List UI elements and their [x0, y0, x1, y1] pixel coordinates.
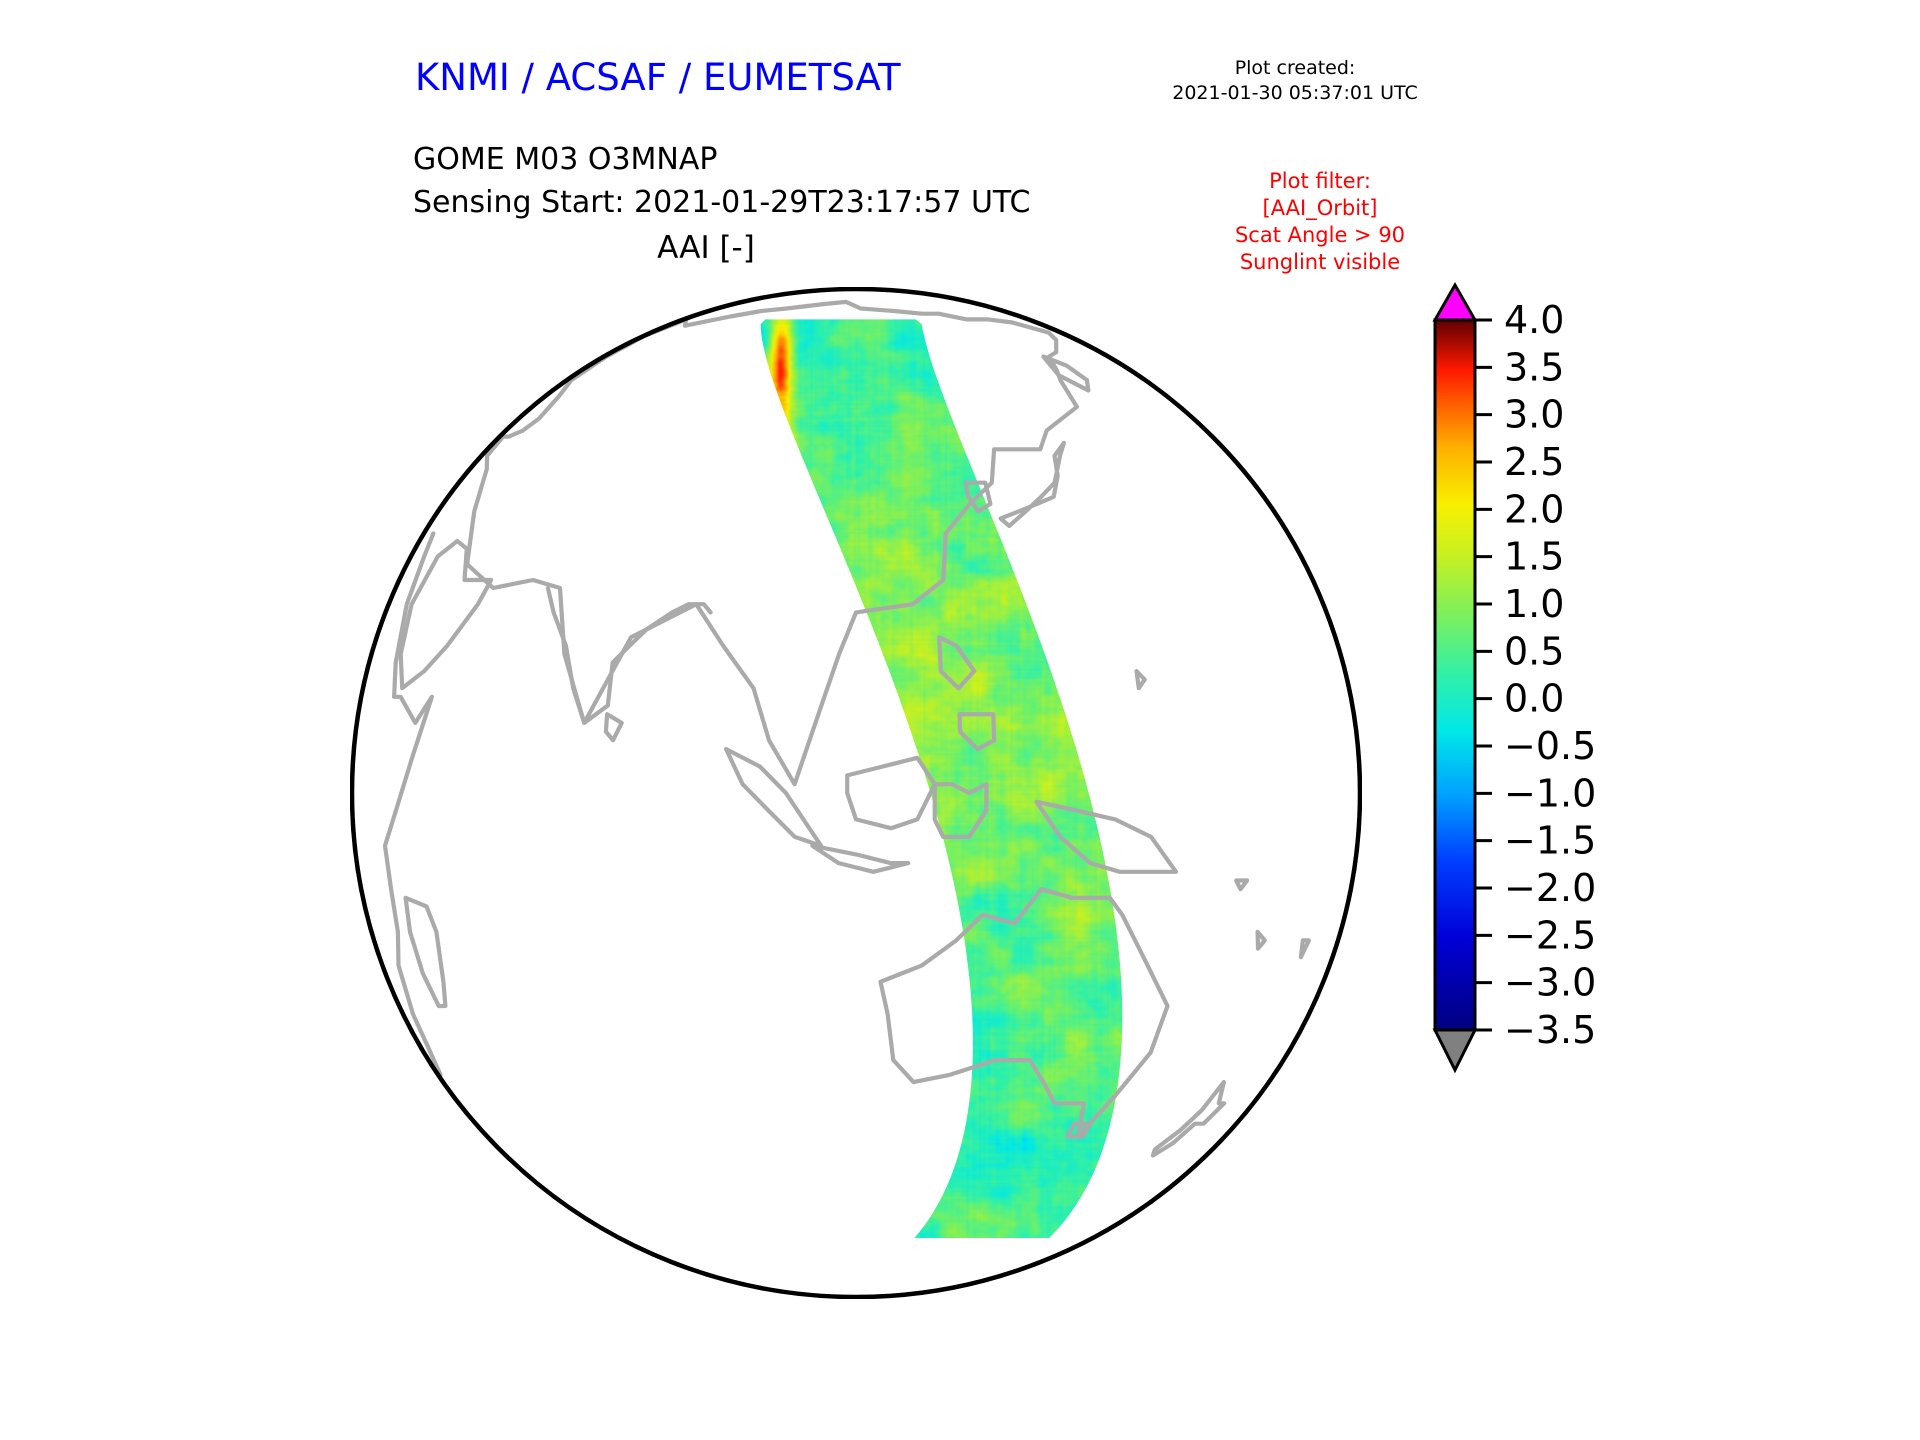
colorbar-tick-label: −2.5: [1504, 913, 1596, 957]
plot-created-block: Plot created: 2021-01-30 05:37:01 UTC: [1140, 56, 1450, 106]
plot-filter-block: Plot filter: [AAI_Orbit] Scat Angle > 90…: [1180, 168, 1460, 276]
colorbar-tick-label: 2.0: [1504, 487, 1564, 531]
colorbar-tick-label: 4.0: [1504, 298, 1564, 342]
sensing-start-line: Sensing Start: 2021-01-29T23:17:57 UTC: [413, 181, 1030, 224]
colorbar-tick-label: 1.5: [1504, 535, 1564, 579]
colorbar-tick-label: −1.5: [1504, 819, 1596, 863]
colorbar-ticks: [1475, 320, 1492, 1030]
plot-filter-condition: Scat Angle > 90: [1180, 222, 1460, 249]
colorbar-tick-label: −3.0: [1504, 961, 1596, 1005]
colorbar-tick-label: −3.5: [1504, 1008, 1596, 1052]
colorbar-tick-labels: 4.03.53.02.52.01.51.00.50.0−0.5−1.0−1.5−…: [1504, 298, 1596, 1052]
instrument-product-line: GOME M03 O3MNAP: [413, 138, 1030, 181]
map-svg: [350, 287, 1362, 1299]
colorbar-tick-label: 3.5: [1504, 345, 1564, 389]
product-info-block: GOME M03 O3MNAP Sensing Start: 2021-01-2…: [413, 138, 1030, 224]
colorbar-tick-label: −2.0: [1504, 866, 1596, 910]
colorbar-tick-label: −0.5: [1504, 724, 1596, 768]
colorbar-tick-label: −1.0: [1504, 771, 1596, 815]
colorbar-tick-label: 2.5: [1504, 440, 1564, 484]
plot-filter-title: Plot filter:: [1180, 168, 1460, 195]
plot-created-label: Plot created:: [1140, 56, 1450, 81]
plot-created-timestamp: 2021-01-30 05:37:01 UTC: [1140, 81, 1450, 106]
colorbar-tick-label: 0.0: [1504, 677, 1564, 721]
colorbar: 4.03.53.02.52.01.51.00.50.0−0.5−1.0−1.5−…: [1430, 280, 1750, 1100]
colorbar-under-arrow: [1435, 1030, 1475, 1070]
globe-map: [350, 287, 1362, 1299]
plot-filter-name: [AAI_Orbit]: [1180, 195, 1460, 222]
colorbar-tick-label: 1.0: [1504, 582, 1564, 626]
colorbar-tick-label: 0.5: [1504, 629, 1564, 673]
colorbar-over-arrow: [1435, 285, 1475, 320]
plot-filter-sunglint: Sunglint visible: [1180, 249, 1460, 276]
organisation-title: KNMI / ACSAF / EUMETSAT: [415, 56, 901, 99]
colorbar-tick-label: 3.0: [1504, 393, 1564, 437]
colorbar-svg: 4.03.53.02.52.01.51.00.50.0−0.5−1.0−1.5−…: [1430, 280, 1750, 1100]
colorbar-gradient-bar: [1435, 320, 1475, 1030]
